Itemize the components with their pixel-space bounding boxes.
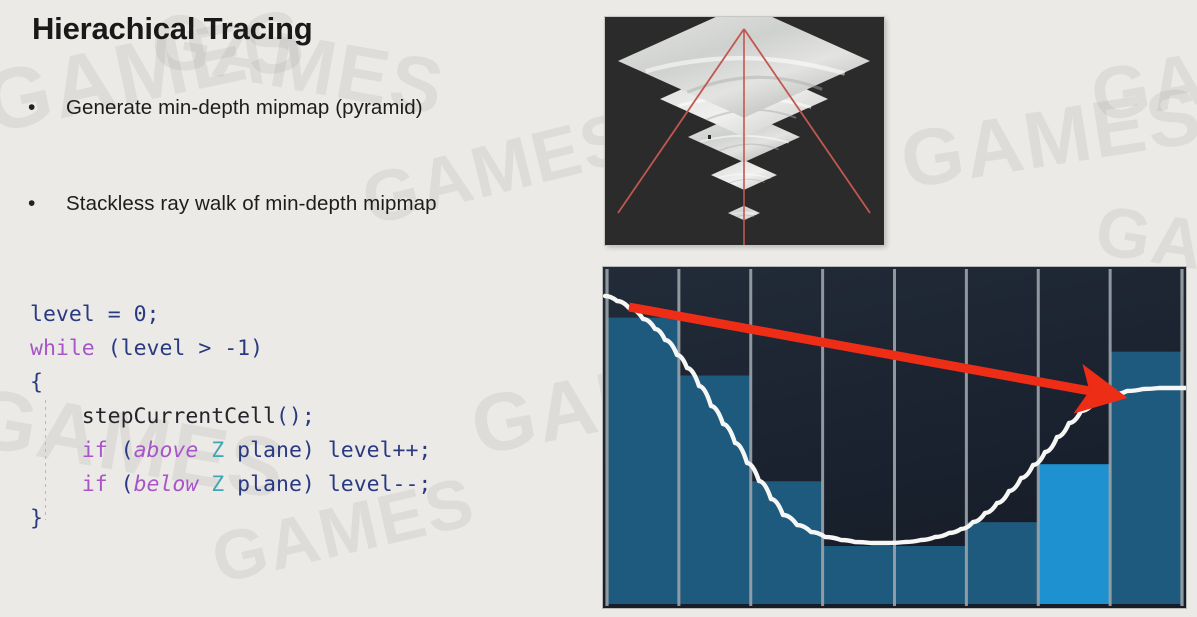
code-token: Z [211, 472, 224, 497]
code-token: level [328, 472, 393, 497]
cell-min-depth-fill [895, 546, 967, 604]
code-token: below [134, 472, 199, 497]
code-token: if [82, 438, 108, 463]
code-token [108, 438, 121, 463]
code-token: ( [121, 472, 134, 497]
code-line-5: if (below Z plane) level--; [30, 468, 431, 502]
bullet-marker-icon: • [28, 190, 46, 218]
bullet-label: Stackless ray walk of min-depth mipmap [66, 190, 437, 218]
code-token: while [30, 336, 95, 361]
code-token: = [108, 302, 121, 327]
code-token: ) [302, 438, 315, 463]
code-token [95, 302, 108, 327]
cell-min-depth-fill [751, 481, 823, 604]
code-token: ( [108, 336, 121, 361]
code-token [198, 438, 211, 463]
code-token [30, 404, 82, 429]
code-token [315, 438, 328, 463]
code-token [121, 302, 134, 327]
code-token: > [198, 336, 211, 361]
code-token: ; [147, 302, 160, 327]
code-token: if [82, 472, 108, 497]
code-line-6: } [30, 502, 431, 536]
cell-min-depth-fill [823, 546, 895, 604]
code-line-1: while (level > -1) [30, 332, 431, 366]
code-token: ) [302, 472, 315, 497]
pyramid-svg [605, 17, 884, 245]
code-token: { [30, 370, 43, 395]
bullet-marker-icon: • [28, 94, 46, 122]
code-token [185, 336, 198, 361]
code-token: level [121, 336, 186, 361]
code-token [198, 472, 211, 497]
code-token: -1 [224, 336, 250, 361]
code-line-4: if (above Z plane) level++; [30, 434, 431, 468]
code-token [108, 472, 121, 497]
code-token: ++; [393, 438, 432, 463]
min-depth-cell-diagram [603, 267, 1186, 608]
code-token: plane [237, 438, 302, 463]
code-token: ; [302, 404, 315, 429]
surface-speck [708, 135, 711, 139]
bullet-item-1: • Stackless ray walk of min-depth mipmap [28, 190, 437, 218]
code-token: level [30, 302, 95, 327]
code-token: plane [237, 472, 302, 497]
cell-diagram-svg [603, 267, 1186, 608]
watermark-games: GAMES [1085, 6, 1197, 139]
code-token [211, 336, 224, 361]
code-token: ) [250, 336, 263, 361]
code-token [30, 472, 82, 497]
cell-min-depth-fill [607, 318, 679, 604]
cell-min-depth-fill [966, 522, 1038, 604]
code-token: stepCurrentCell [82, 404, 276, 429]
code-line-0: level = 0; [30, 298, 431, 332]
code-token [30, 438, 82, 463]
code-token [315, 472, 328, 497]
code-token: --; [393, 472, 432, 497]
cell-min-depth-fill-current [1038, 464, 1110, 604]
code-token [224, 472, 237, 497]
code-token [224, 438, 237, 463]
code-token: 0 [134, 302, 147, 327]
page-title: Hierachical Tracing [32, 11, 313, 47]
code-token [95, 336, 108, 361]
code-line-3: stepCurrentCell(); [30, 400, 431, 434]
code-token: ( [121, 438, 134, 463]
code-token: } [30, 506, 43, 531]
mipmap-pyramid-figure [605, 17, 884, 245]
code-token: Z [211, 438, 224, 463]
code-token: above [134, 438, 199, 463]
code-line-2: { [30, 366, 431, 400]
watermark-games: GAMES [895, 69, 1197, 207]
bullet-item-0: • Generate min-depth mipmap (pyramid) [28, 94, 423, 122]
bullet-label: Generate min-depth mipmap (pyramid) [66, 94, 423, 122]
code-snippet: level = 0;while (level > -1){ stepCurren… [30, 298, 431, 536]
code-token: level [328, 438, 393, 463]
code-token: () [276, 404, 302, 429]
